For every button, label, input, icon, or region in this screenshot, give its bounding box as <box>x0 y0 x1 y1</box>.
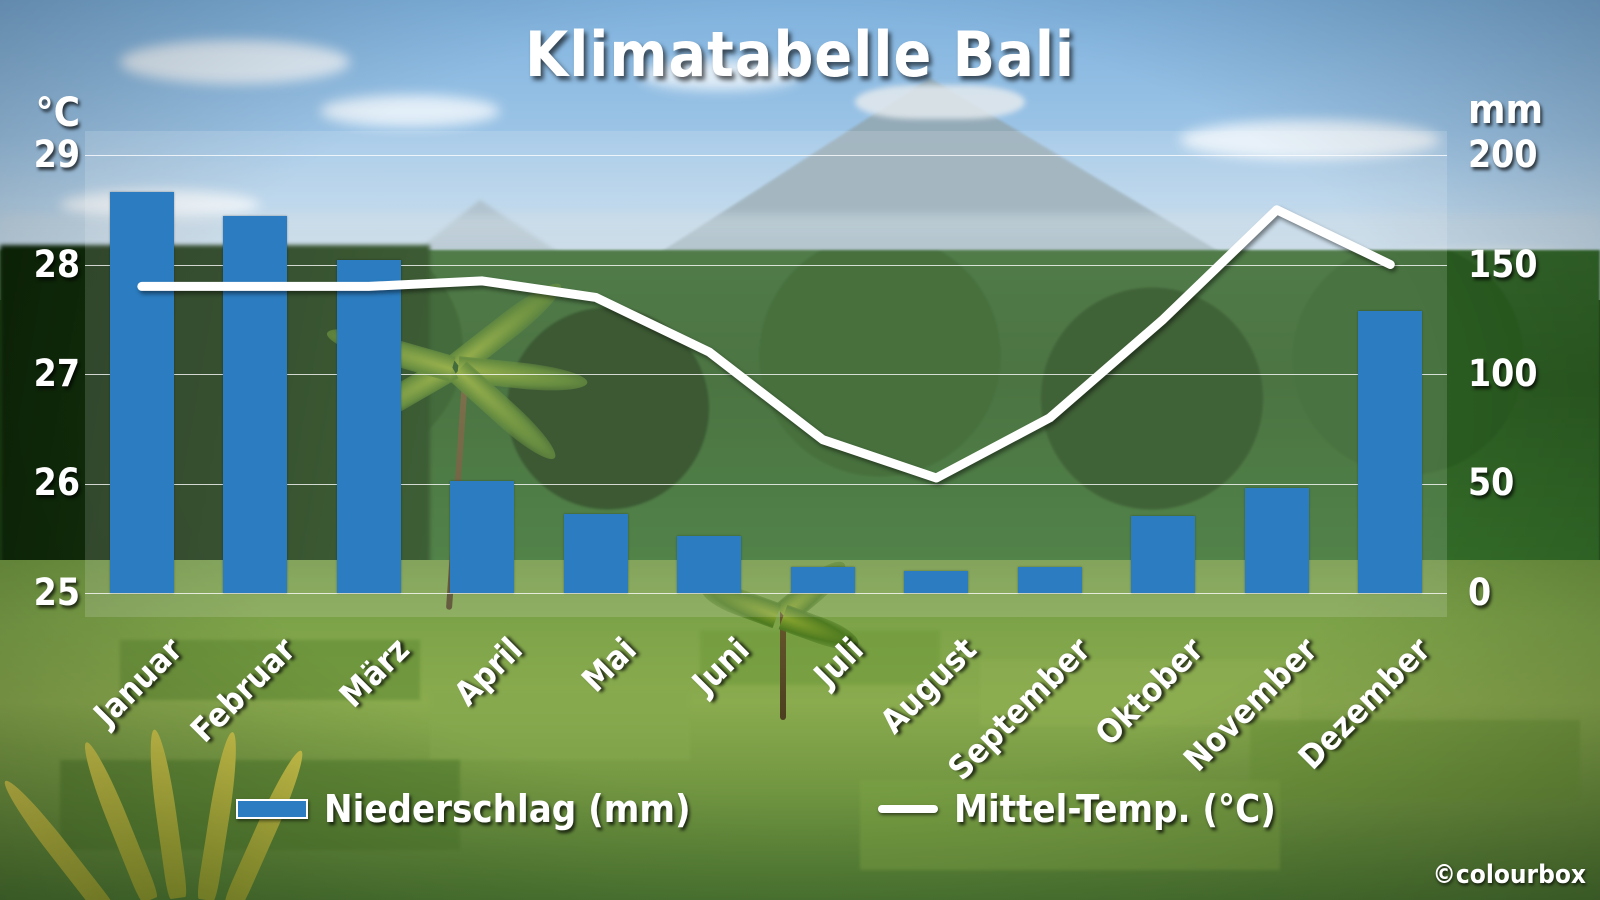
right-axis-tick-150: 150 <box>1468 246 1598 283</box>
temperature-line <box>85 131 1447 617</box>
watermark-colourbox: ©colourbox <box>1432 860 1586 890</box>
right-axis-tick-50: 50 <box>1468 464 1598 501</box>
left-axis-tick-27: 27 <box>10 355 80 392</box>
legend-item-precipitation: Niederschlag (mm) <box>236 789 691 829</box>
left-axis-tick-29: 29 <box>10 136 80 173</box>
legend-label-precipitation: Niederschlag (mm) <box>324 787 691 831</box>
legend-swatch-line-icon <box>878 805 938 813</box>
plot-area <box>85 131 1447 617</box>
climate-chart: Klimatabelle Bali °C 29 28 27 26 25 mm 2… <box>0 0 1600 900</box>
page-title: Klimatabelle Bali <box>0 18 1600 91</box>
left-axis-tick-28: 28 <box>10 246 80 283</box>
right-axis-tick-0: 0 <box>1468 574 1598 611</box>
right-axis-tick-200: 200 <box>1468 136 1598 173</box>
right-axis-unit: mm <box>1468 90 1598 130</box>
left-axis-tick-25: 25 <box>10 574 80 611</box>
legend-label-temperature: Mittel-Temp. (°C) <box>954 787 1276 831</box>
legend-swatch-bar-icon <box>236 799 308 819</box>
right-axis-tick-100: 100 <box>1468 355 1598 392</box>
legend-item-temperature: Mittel-Temp. (°C) <box>878 789 1276 829</box>
left-axis-unit: °C <box>10 93 80 133</box>
left-axis-tick-26: 26 <box>10 464 80 501</box>
